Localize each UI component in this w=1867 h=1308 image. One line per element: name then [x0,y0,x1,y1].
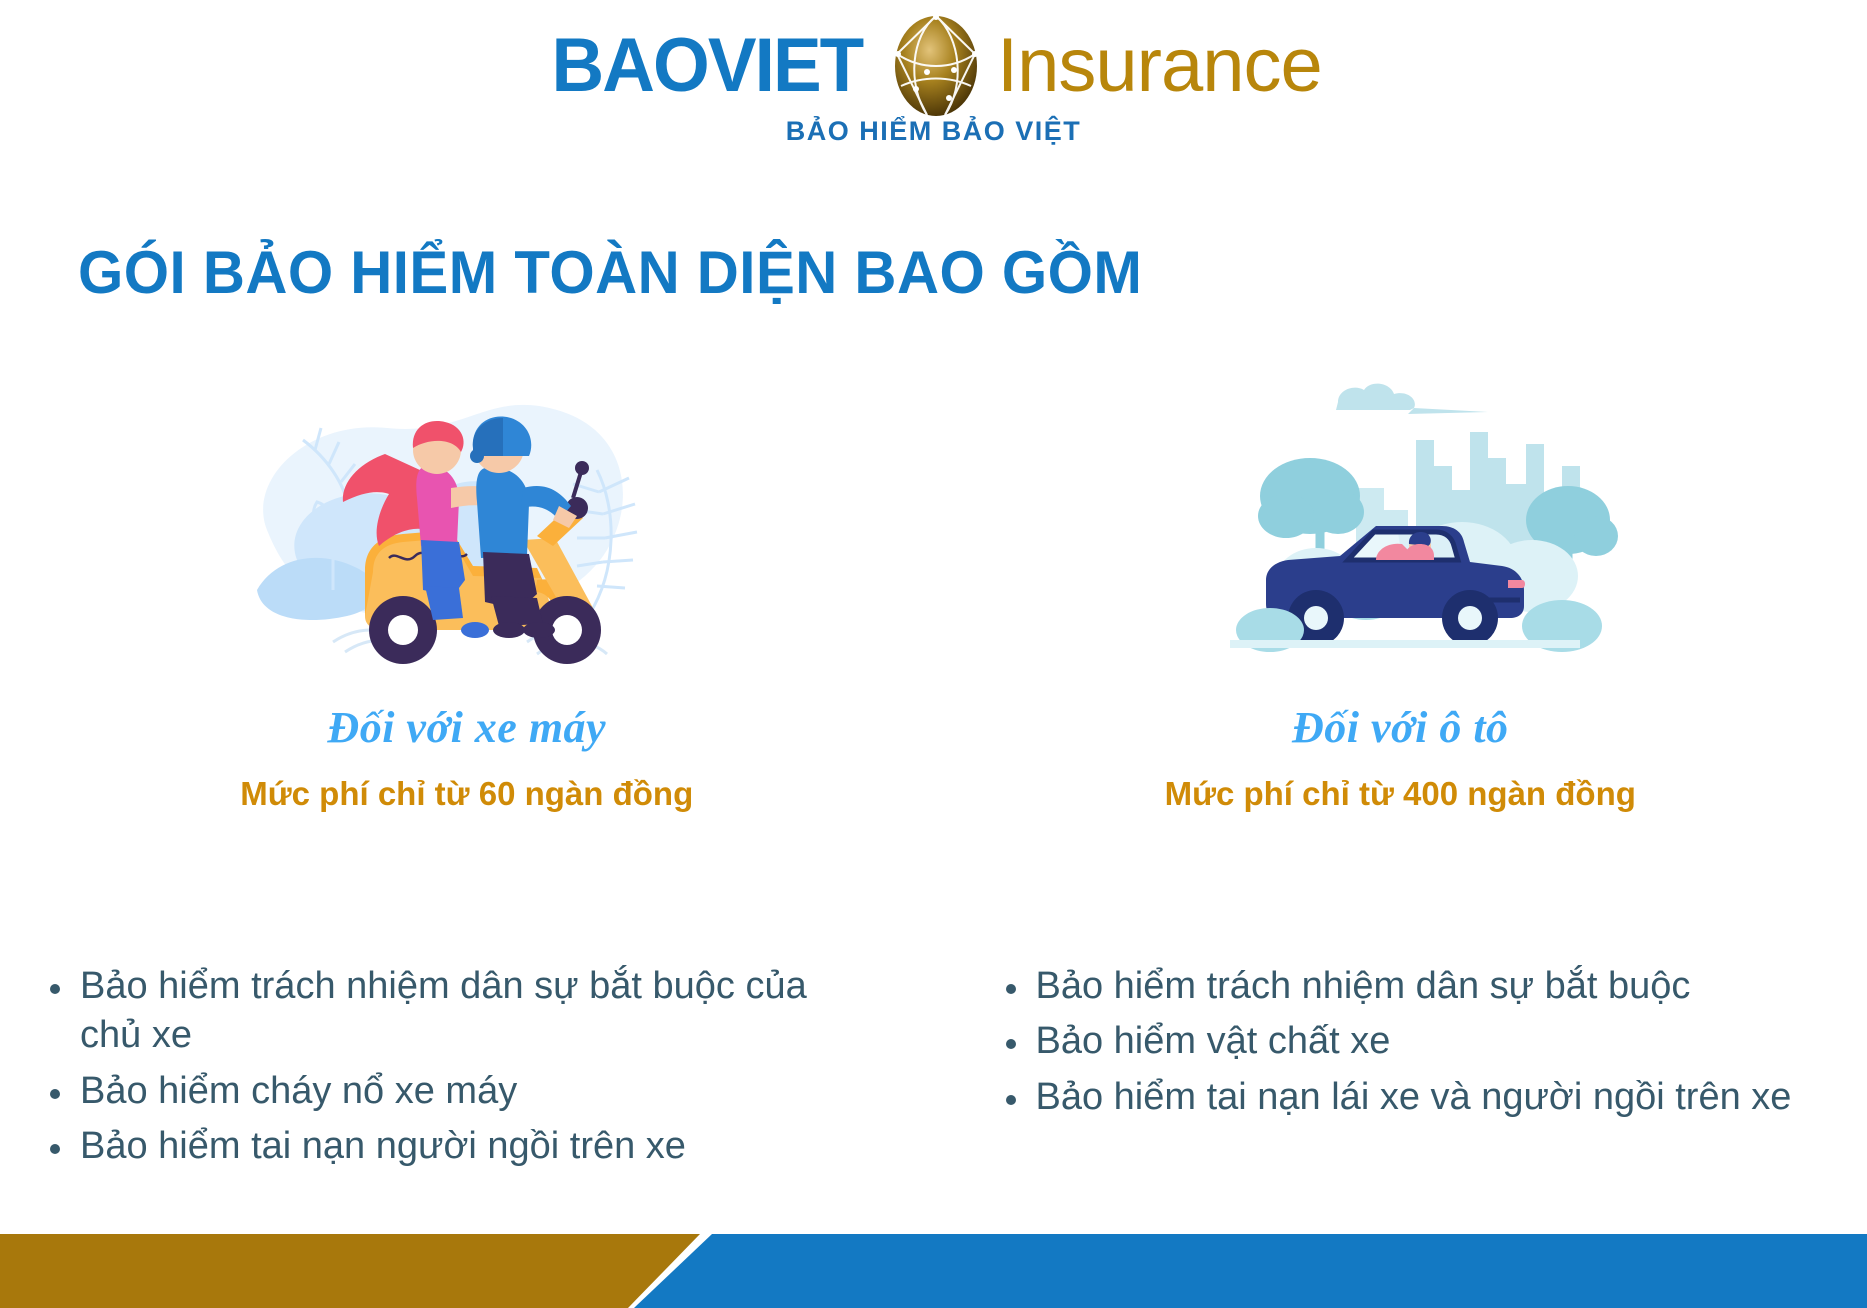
column-car: Đối với ô tô Mức phí chỉ từ 400 ngàn đồn… [934,380,1867,813]
bullet-dot-icon [50,984,60,994]
list-item-label: Bảo hiểm trách nhiệm dân sự bắt buộc [1036,965,1691,1007]
page-title: GÓI BẢO HIỂM TOÀN DIỆN BAO GỒM [78,238,1142,307]
list-item-label: Bảo hiểm vật chất xe [1036,1020,1391,1062]
brand-logo-block: BAOVIET [0,22,1867,147]
car-driver-illustration [1170,380,1630,680]
list-item-label: Bảo hiểm cháy nổ xe máy [80,1070,517,1112]
logo-wordmark-insurance: Insurance [997,28,1322,104]
logo-wordmark-baoviet: BAOVIET [552,28,863,104]
logo-subtitle: BẢO HIỂM BẢO VIỆT [0,116,1867,147]
column-heading-motorbike: Đối với xe máy [327,702,606,753]
footer-bar-blue-segment [634,1234,1867,1308]
column-heading-car: Đối với ô tô [1292,702,1509,753]
list-item-label: Bảo hiểm tai nạn lái xe và người ngồi tr… [1036,1076,1792,1118]
column-price-car: Mức phí chỉ từ 400 ngàn đồng [1165,775,1636,813]
list-item: Bảo hiểm vật chất xe [998,1017,1792,1066]
list-item-label: Bảo hiểm tai nạn người ngồi trên xe [80,1125,686,1167]
benefit-list-motorbike: Bảo hiểm trách nhiệm dân sự bắt buộc của… [42,962,842,1178]
motorbike-couple-illustration [237,380,697,680]
bullet-dot-icon [50,1144,60,1154]
footer-bar-gold-segment [0,1234,700,1308]
bullet-dot-icon [1006,1095,1016,1105]
list-item: Bảo hiểm trách nhiệm dân sự bắt buộc [998,962,1792,1011]
footer-bar [0,1234,1867,1308]
bullet-dot-icon [50,1089,60,1099]
list-item-label: Bảo hiểm trách nhiệm dân sự bắt buộc của… [80,965,807,1056]
logo-row: BAOVIET [0,22,1867,110]
benefit-list-motorbike-wrap: Bảo hiểm trách nhiệm dân sự bắt buộc của… [0,962,934,1178]
bullet-dot-icon [1006,1039,1016,1049]
list-item: Bảo hiểm tai nạn lái xe và người ngồi tr… [998,1073,1792,1122]
globe-icon [891,14,981,118]
benefit-list-car: Bảo hiểm trách nhiệm dân sự bắt buộc Bảo… [998,962,1792,1178]
benefit-lists: Bảo hiểm trách nhiệm dân sự bắt buộc của… [0,962,1867,1178]
list-item: Bảo hiểm trách nhiệm dân sự bắt buộc của… [42,962,842,1061]
column-motorbike: Đối với xe máy Mức phí chỉ từ 60 ngàn đồ… [0,380,934,813]
bullet-dot-icon [1006,984,1016,994]
product-columns: Đối với xe máy Mức phí chỉ từ 60 ngàn đồ… [0,380,1867,813]
list-item: Bảo hiểm cháy nổ xe máy [42,1067,842,1116]
benefit-list-car-wrap: Bảo hiểm trách nhiệm dân sự bắt buộc Bảo… [934,962,1867,1178]
list-item: Bảo hiểm tai nạn người ngồi trên xe [42,1122,842,1171]
slide-root: BAOVIET [0,0,1867,1308]
column-price-motorbike: Mức phí chỉ từ 60 ngàn đồng [240,775,693,813]
